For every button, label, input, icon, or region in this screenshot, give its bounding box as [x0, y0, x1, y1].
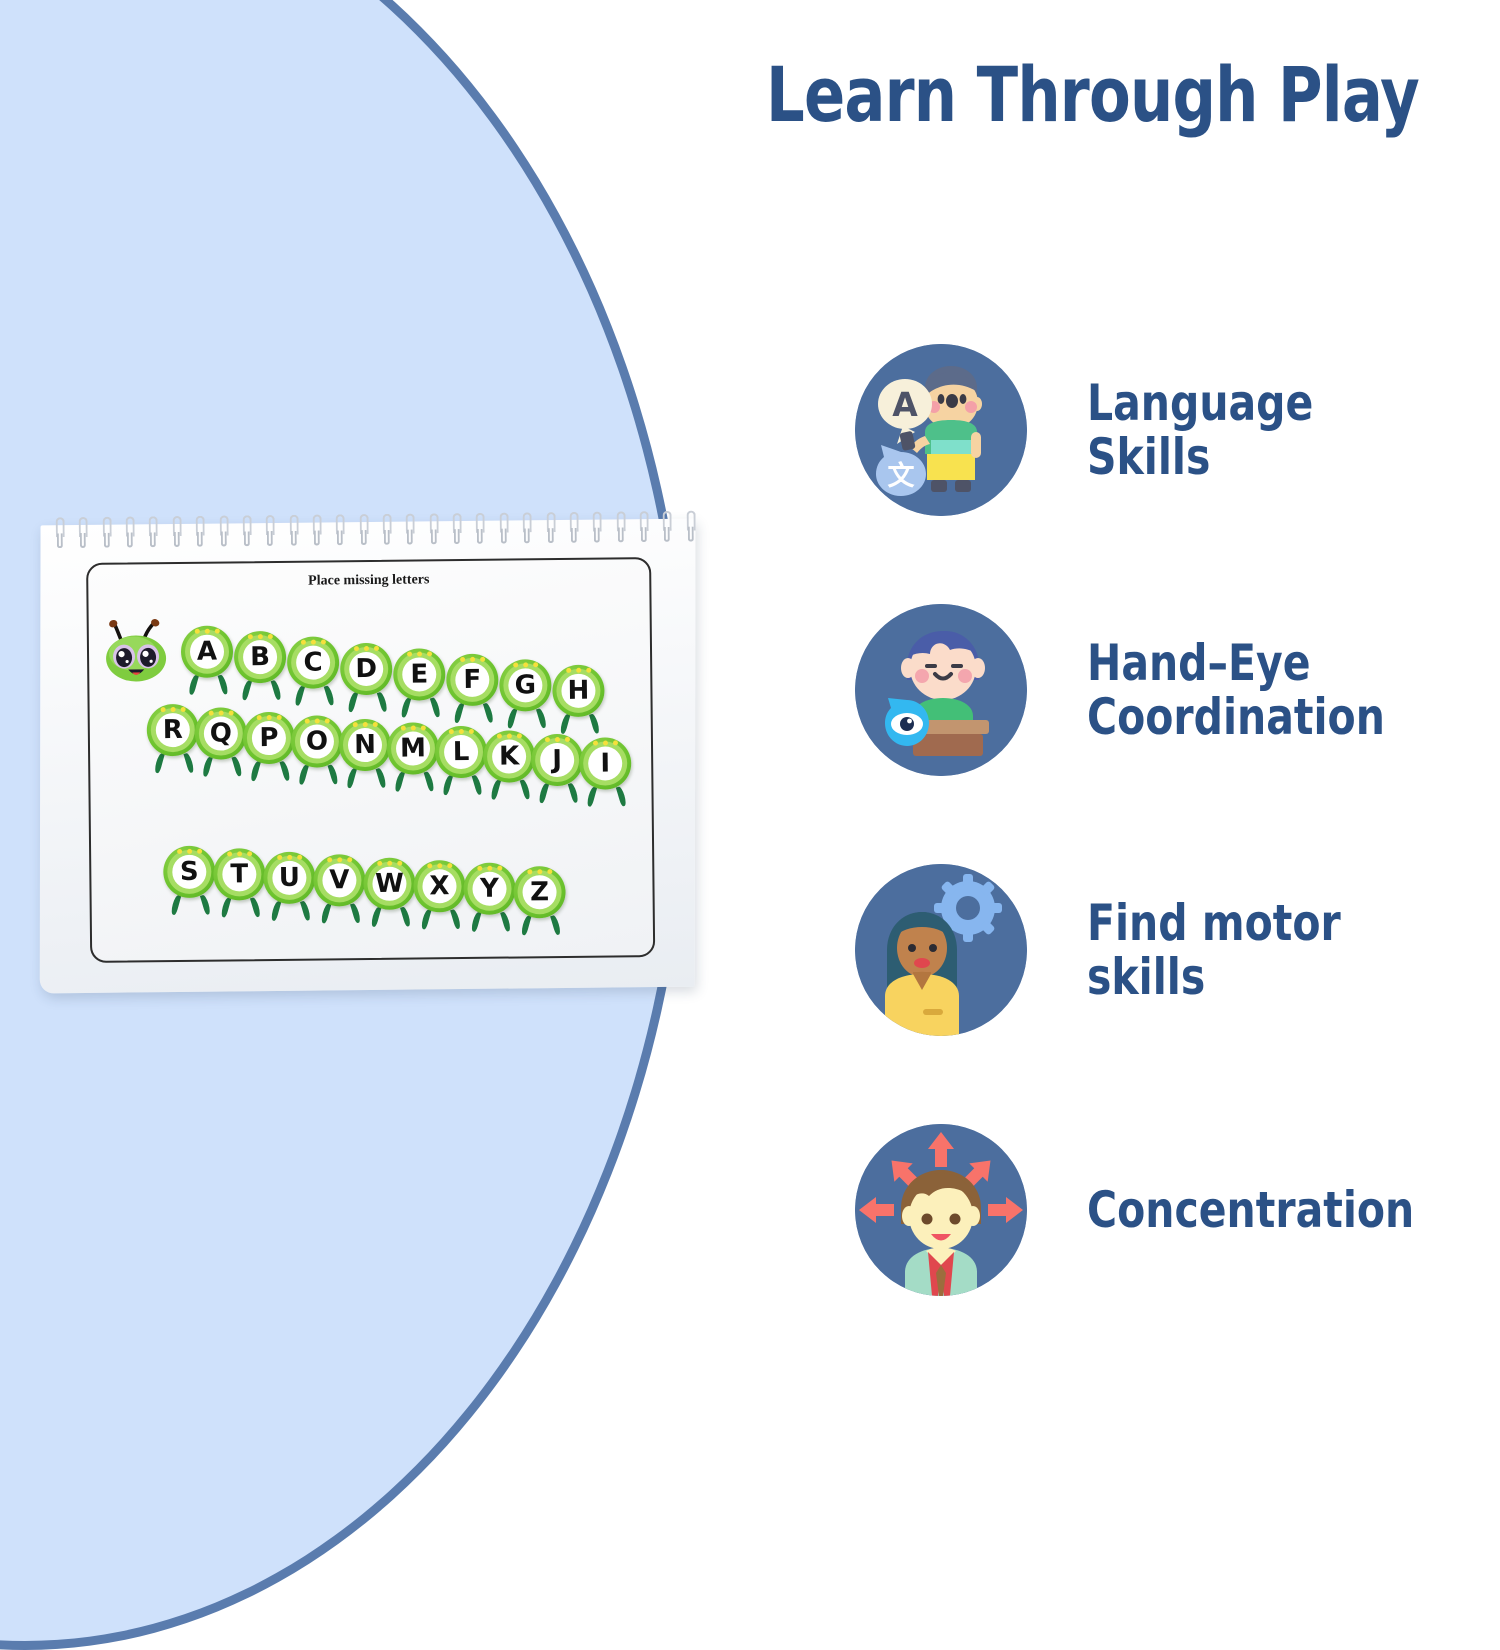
letter-disc[interactable]: O: [291, 715, 344, 768]
concentration-arrows-boy-icon: [855, 1124, 1027, 1296]
disc-legs: [268, 900, 314, 922]
letter-disc[interactable]: D: [340, 642, 393, 695]
disc-letter: S: [172, 855, 206, 889]
disc-legs: [418, 909, 464, 931]
board-title: Place missing letters: [88, 570, 649, 592]
page-title: Learn Through Play: [766, 55, 1374, 135]
spiral-binding: [56, 511, 696, 552]
benefit-item-language-skills[interactable]: A 文 Language Skills: [855, 330, 1495, 530]
disc-dots-icon: [263, 854, 315, 860]
disc-legs: [535, 783, 581, 805]
disc-letter: K: [492, 739, 526, 773]
benefit-item-hand-eye-coordination[interactable]: Hand–Eye Coordination: [855, 590, 1495, 790]
disc-dots-icon: [513, 869, 565, 875]
letter-disc[interactable]: C: [287, 637, 340, 690]
letter-disc[interactable]: H: [552, 665, 605, 718]
workbook-toy[interactable]: Place missing letters: [37, 497, 702, 994]
disc-legs: [504, 708, 550, 730]
spiral-coil: [289, 515, 298, 547]
spiral-coil: [640, 511, 649, 543]
letter-disc[interactable]: M: [387, 722, 440, 775]
disc-legs: [247, 760, 293, 782]
benefit-item-find-motor-skills[interactable]: Find motor skills: [855, 850, 1495, 1050]
disc-dots-icon: [195, 711, 247, 717]
disc-legs: [185, 674, 231, 696]
letter-disc[interactable]: V: [313, 854, 366, 907]
disc-dots-icon: [463, 866, 515, 872]
disc-legs: [291, 686, 337, 708]
disc-dots-icon: [531, 737, 583, 743]
disc-legs: [199, 757, 245, 779]
disc-legs: [583, 786, 629, 808]
spiral-coil: [219, 515, 228, 547]
spiral-coil: [242, 515, 251, 547]
letter-disc[interactable]: N: [339, 719, 392, 772]
letter-disc[interactable]: E: [393, 648, 446, 701]
spiral-coil: [383, 514, 392, 546]
disc-letter: I: [588, 746, 622, 780]
disc-letter: M: [396, 732, 430, 766]
spiral-coil: [359, 514, 368, 546]
letter-disc[interactable]: F: [446, 654, 499, 707]
spiral-coil: [546, 512, 555, 544]
spiral-coil: [616, 511, 625, 543]
disc-legs: [344, 691, 390, 713]
disc-dots-icon: [213, 851, 265, 857]
disc-letter: Z: [522, 875, 556, 909]
disc-dots-icon: [340, 645, 392, 651]
letter-disc[interactable]: W: [363, 857, 416, 910]
disc-dots-icon: [393, 651, 445, 657]
svg-text:A: A: [892, 385, 918, 424]
disc-letter: N: [348, 728, 382, 762]
spiral-coil: [266, 515, 275, 547]
letter-disc[interactable]: I: [579, 737, 632, 790]
letter-disc[interactable]: S: [163, 846, 216, 899]
disc-dots-icon: [181, 628, 233, 634]
letter-disc[interactable]: T: [213, 848, 266, 901]
disc-letter: X: [422, 869, 456, 903]
disc-letter: W: [372, 866, 406, 900]
letter-disc[interactable]: G: [499, 659, 552, 712]
spiral-coil: [196, 516, 205, 548]
disc-letter: F: [455, 663, 489, 697]
disc-dots-icon: [363, 860, 415, 866]
svg-text:文: 文: [888, 460, 916, 492]
disc-legs: [518, 915, 564, 937]
spiral-coil: [429, 513, 438, 545]
disc-dots-icon: [147, 707, 199, 713]
letter-disc[interactable]: P: [243, 711, 296, 764]
letter-disc[interactable]: R: [147, 704, 200, 757]
spiral-coil: [499, 513, 508, 545]
disc-legs: [391, 771, 437, 793]
benefit-label: Hand–Eye Coordination: [1087, 636, 1385, 744]
motor-skills-gear-girl-icon: [855, 864, 1027, 1036]
disc-dots-icon: [552, 668, 604, 674]
disc-letter: A: [190, 635, 224, 669]
spiral-coil: [56, 517, 65, 549]
spiral-coil: [453, 513, 462, 545]
disc-letter: J: [540, 743, 574, 777]
spiral-coil: [126, 516, 135, 548]
disc-letter: D: [349, 651, 383, 685]
disc-legs: [439, 775, 485, 797]
disc-dots-icon: [413, 863, 465, 869]
caterpillar-head-icon: [103, 618, 174, 683]
benefits-list: A 文 Language Skills: [855, 330, 1495, 1310]
benefit-label: Concentration: [1087, 1183, 1414, 1237]
disc-dots-icon: [234, 634, 286, 640]
disc-letter: O: [300, 724, 334, 758]
disc-dots-icon: [313, 857, 365, 863]
disc-dots-icon: [387, 725, 439, 731]
spiral-coil: [523, 512, 532, 544]
disc-dots-icon: [435, 729, 487, 735]
disc-letter: U: [272, 860, 306, 894]
spiral-coil: [569, 512, 578, 544]
disc-legs: [343, 768, 389, 790]
spiral-coil: [102, 517, 111, 549]
spiral-coil: [686, 511, 695, 543]
disc-legs: [368, 906, 414, 928]
disc-legs: [487, 779, 533, 801]
disc-dots-icon: [243, 714, 295, 720]
disc-dots-icon: [446, 657, 498, 663]
activity-board[interactable]: Place missing letters: [86, 557, 655, 963]
disc-legs: [168, 895, 214, 917]
disc-letter: E: [402, 657, 436, 691]
disc-legs: [295, 764, 341, 786]
spiral-coil: [149, 516, 158, 548]
language-translate-child-icon: A 文: [855, 344, 1027, 516]
disc-dots-icon: [499, 662, 551, 668]
benefit-item-concentration[interactable]: Concentration: [855, 1110, 1495, 1310]
letter-disc[interactable]: K: [483, 730, 536, 783]
disc-legs: [218, 898, 264, 920]
disc-dots-icon: [163, 849, 215, 855]
disc-legs: [398, 697, 444, 719]
disc-dots-icon: [483, 733, 535, 739]
letter-disc[interactable]: A: [181, 625, 234, 678]
benefit-label: Language Skills: [1087, 376, 1313, 484]
spiral-coil: [663, 511, 672, 543]
disc-legs: [451, 703, 497, 725]
spiral-coil: [172, 516, 181, 548]
disc-dots-icon: [291, 718, 343, 724]
letter-disc[interactable]: U: [263, 851, 316, 904]
letter-disc[interactable]: L: [435, 726, 488, 779]
disc-legs: [468, 912, 514, 934]
spiral-coil: [593, 512, 602, 544]
spiral-coil: [313, 514, 322, 546]
letter-disc[interactable]: B: [234, 631, 287, 684]
spiral-coil: [476, 513, 485, 545]
letter-disc[interactable]: X: [413, 860, 466, 913]
disc-dots-icon: [287, 640, 339, 646]
letter-disc[interactable]: Z: [513, 866, 566, 919]
letter-disc[interactable]: Q: [195, 708, 248, 761]
letter-disc[interactable]: J: [531, 734, 584, 787]
disc-legs: [238, 680, 284, 702]
hand-eye-child-desk-icon: [855, 604, 1027, 776]
spiral-coil: [79, 517, 88, 549]
disc-legs: [151, 753, 197, 775]
letter-disc[interactable]: Y: [463, 863, 516, 916]
benefit-label: Find motor skills: [1087, 896, 1341, 1004]
disc-dots-icon: [339, 722, 391, 728]
spiral-coil: [336, 514, 345, 546]
disc-letter: P: [252, 720, 286, 754]
spiral-coil: [406, 514, 415, 546]
disc-dots-icon: [579, 740, 631, 746]
disc-legs: [318, 903, 364, 925]
